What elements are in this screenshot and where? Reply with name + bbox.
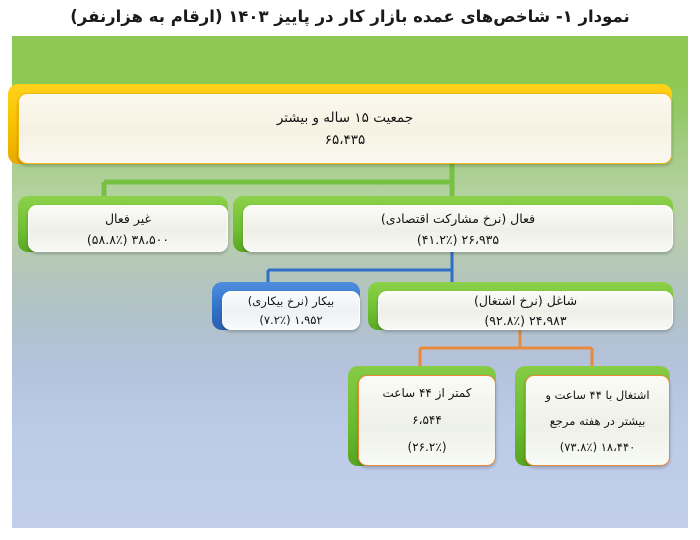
node-under-44-hours-value: ۶،۵۴۴: [412, 407, 442, 434]
node-active-label: فعال (نرخ مشارکت اقتصادی): [381, 208, 535, 229]
node-over-44-hours-value: ۱۸،۴۴۰ (۷۳.۸٪): [560, 434, 636, 460]
node-population-value: ۶۵،۴۳۵: [325, 129, 366, 151]
node-unemployed-face: بیکار (نرخ بیکاری) ۱،۹۵۲ (۷.۲٪): [222, 291, 360, 330]
node-under-44-hours-label: کمتر از ۴۴ ساعت: [383, 380, 472, 407]
node-over-44-hours[interactable]: اشتغال با ۴۴ ساعت و بیشتر در هفته مرجع ۱…: [515, 366, 670, 466]
node-under-44-hours-face: کمتر از ۴۴ ساعت ۶،۵۴۴ (۲۶.۲٪): [358, 375, 496, 466]
node-employed-label: شاغل (نرخ اشتغال): [474, 291, 577, 311]
page-title: نمودار ۱- شاخص‌های عمده بازار کار در پای…: [0, 4, 700, 30]
node-inactive-label: غیر فعال: [105, 208, 151, 229]
node-population[interactable]: جمعیت ۱۵ ساله و بیشتر ۶۵،۴۳۵: [8, 84, 672, 164]
node-over-44-hours-label-line1: اشتغال با ۴۴ ساعت و: [545, 382, 649, 408]
node-unemployed-value: ۱،۹۵۲ (۷.۲٪): [259, 311, 322, 330]
node-under-44-hours-percent: (۲۶.۲٪): [408, 434, 447, 461]
node-active-value: ۲۶،۹۳۵ (۴۱.۲٪): [417, 229, 499, 250]
node-employed[interactable]: شاغل (نرخ اشتغال) ۲۴،۹۸۳ (۹۲.۸٪): [368, 282, 673, 330]
node-inactive-value: ۳۸،۵۰۰ (۵۸.۸٪): [87, 229, 169, 250]
node-employed-face: شاغل (نرخ اشتغال) ۲۴،۹۸۳ (۹۲.۸٪): [378, 291, 673, 330]
node-over-44-hours-face: اشتغال با ۴۴ ساعت و بیشتر در هفته مرجع ۱…: [525, 375, 670, 466]
node-active[interactable]: فعال (نرخ مشارکت اقتصادی) ۲۶،۹۳۵ (۴۱.۲٪): [233, 196, 673, 252]
node-over-44-hours-label-line2: بیشتر در هفته مرجع: [550, 408, 646, 434]
node-unemployed-label: بیکار (نرخ بیکاری): [248, 292, 334, 311]
node-population-face: جمعیت ۱۵ ساله و بیشتر ۶۵،۴۳۵: [18, 93, 672, 164]
node-inactive-face: غیر فعال ۳۸،۵۰۰ (۵۸.۸٪): [28, 205, 228, 252]
node-population-label: جمعیت ۱۵ ساله و بیشتر: [277, 107, 413, 129]
node-unemployed[interactable]: بیکار (نرخ بیکاری) ۱،۹۵۲ (۷.۲٪): [212, 282, 360, 330]
chart-canvas: نمودار ۱- شاخص‌های عمده بازار کار در پای…: [0, 0, 700, 540]
node-inactive[interactable]: غیر فعال ۳۸،۵۰۰ (۵۸.۸٪): [18, 196, 228, 252]
node-under-44-hours[interactable]: کمتر از ۴۴ ساعت ۶،۵۴۴ (۲۶.۲٪): [348, 366, 496, 466]
node-employed-value: ۲۴،۹۸۳ (۹۲.۸٪): [484, 311, 566, 331]
node-active-face: فعال (نرخ مشارکت اقتصادی) ۲۶،۹۳۵ (۴۱.۲٪): [243, 205, 673, 252]
